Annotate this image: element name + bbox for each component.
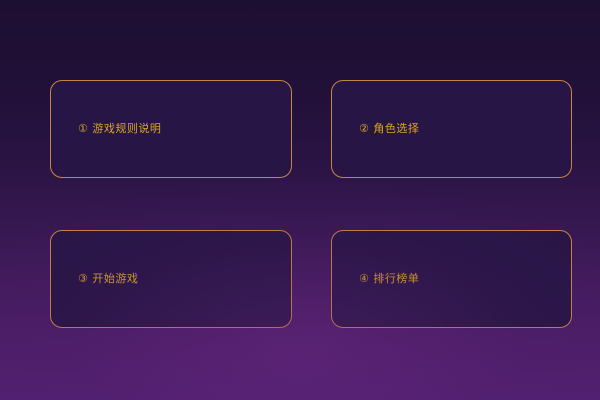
card-3-label: ③ 开始游戏: [78, 273, 138, 285]
card-1-label: ① 游戏规则说明: [78, 123, 161, 135]
app-root: ① 游戏规则说明 ② 角色选择 ③ 开始游戏 ④ 排行榜单: [0, 0, 600, 400]
card-4[interactable]: ④ 排行榜单: [331, 230, 572, 328]
card-1[interactable]: ① 游戏规则说明: [50, 80, 292, 178]
card-3[interactable]: ③ 开始游戏: [50, 230, 292, 328]
card-grid: ① 游戏规则说明 ② 角色选择 ③ 开始游戏 ④ 排行榜单: [0, 0, 600, 400]
card-2[interactable]: ② 角色选择: [331, 80, 572, 178]
card-2-label: ② 角色选择: [359, 123, 419, 135]
card-4-label: ④ 排行榜单: [359, 273, 419, 285]
